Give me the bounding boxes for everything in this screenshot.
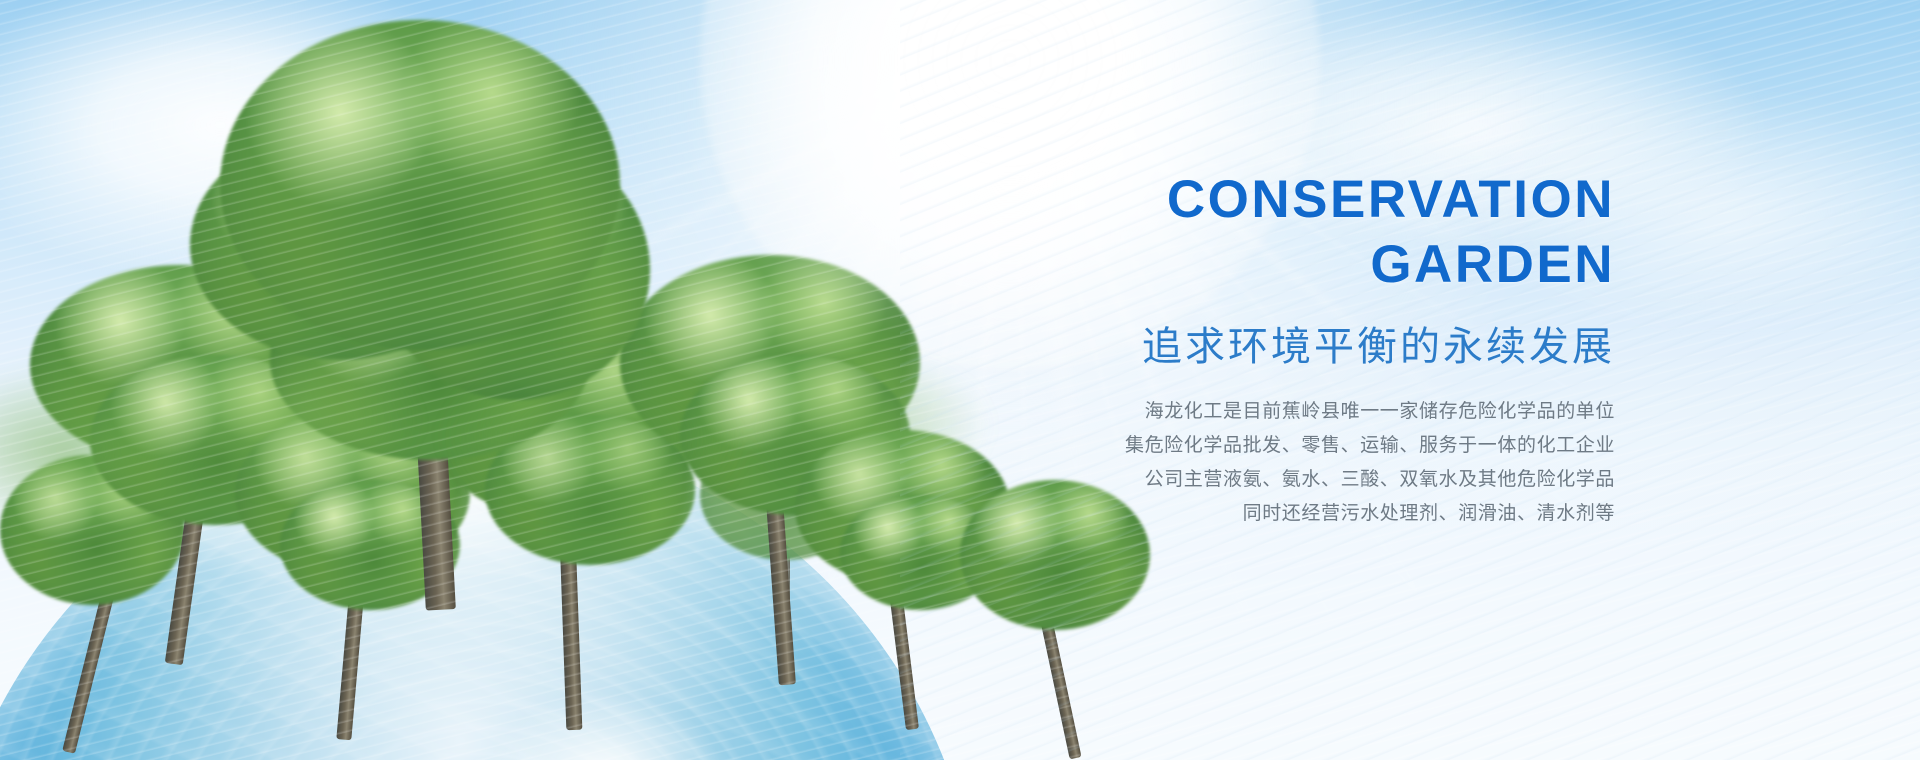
tree-icon <box>180 10 650 590</box>
page-title: CONSERVATION GARDEN <box>855 168 1615 297</box>
tree-canopy <box>220 20 620 350</box>
description-line: 集危险化学品批发、零售、运输、服务于一体的化工企业 <box>855 429 1615 463</box>
description-block: 海龙化工是目前蕉岭县唯一一家储存危险化学品的单位 集危险化学品批发、零售、运输、… <box>855 395 1615 530</box>
description-line: 同时还经营污水处理剂、润滑油、清水剂等 <box>855 497 1615 531</box>
description-line: 公司主营液氨、氨水、三酸、双氧水及其他危险化学品 <box>855 463 1615 497</box>
headline-line-2: GARDEN <box>855 233 1615 298</box>
headline-line-1: CONSERVATION <box>1167 170 1615 229</box>
banner-copy: CONSERVATION GARDEN 追求环境平衡的永续发展 海龙化工是目前蕉… <box>855 168 1615 531</box>
conservation-garden-banner: CONSERVATION GARDEN 追求环境平衡的永续发展 海龙化工是目前蕉… <box>0 0 1920 760</box>
tagline: 追求环境平衡的永续发展 <box>855 323 1615 371</box>
description-line: 海龙化工是目前蕉岭县唯一一家储存危险化学品的单位 <box>855 395 1615 429</box>
